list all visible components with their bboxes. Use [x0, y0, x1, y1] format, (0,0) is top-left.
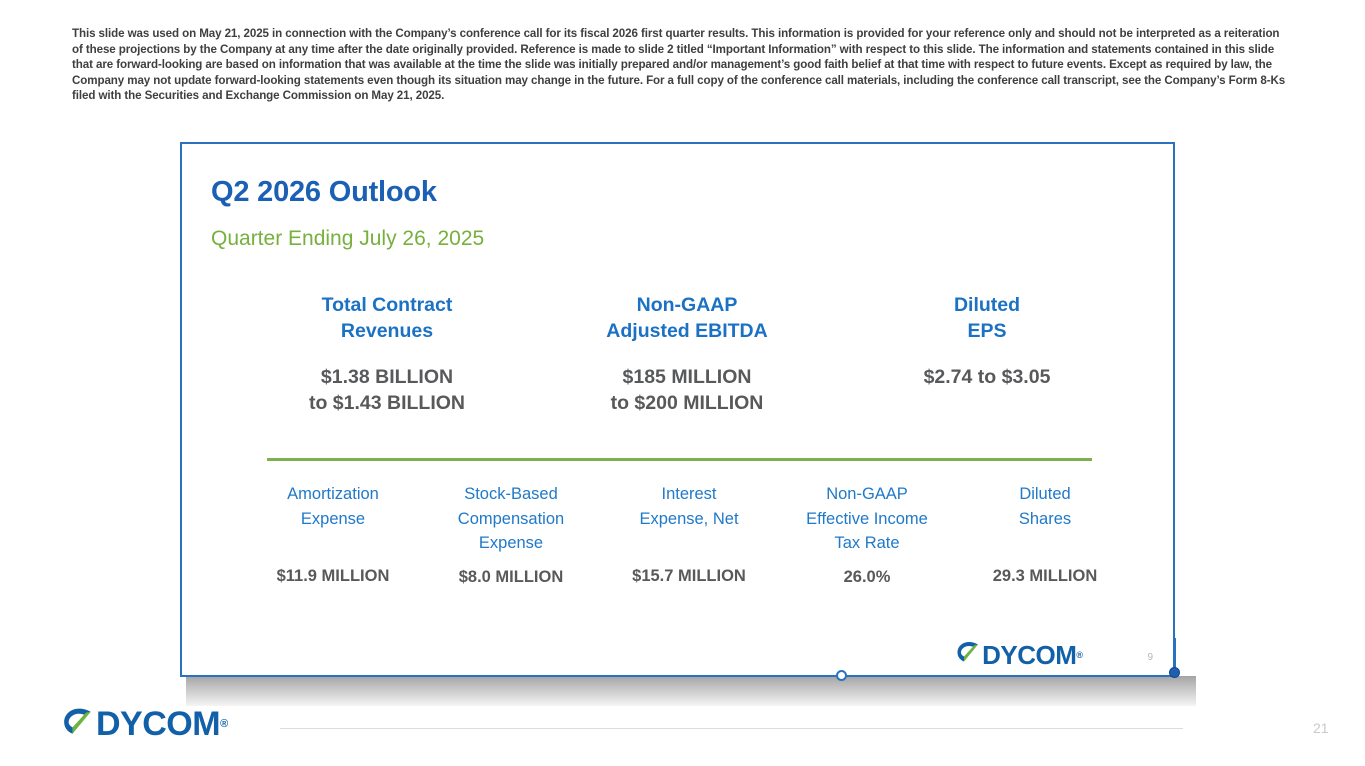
metric-label: Stock-Based Compensation Expense	[422, 482, 600, 556]
slide-content: Q2 2026 Outlook Quarter Ending July 26, …	[182, 144, 1173, 675]
dycom-wordmark: DYCOM	[982, 642, 1076, 668]
dycom-registered-mark: ®	[220, 718, 228, 730]
slide-dycom-logo: DYCOM ®	[956, 640, 1083, 669]
metric-label: Non-GAAP Effective Income Tax Rate	[778, 482, 956, 556]
metric-interest-expense-net: Interest Expense, Net $15.7 MILLION	[600, 482, 778, 588]
metric-label: Amortization Expense	[244, 482, 422, 531]
metric-value: $2.74 to $3.05	[837, 364, 1137, 390]
metric-value: $8.0 MILLION	[422, 566, 600, 588]
selection-handle-right[interactable]	[1169, 667, 1180, 678]
metric-label: Diluted EPS	[837, 292, 1137, 344]
selected-slide-image[interactable]: Q2 2026 Outlook Quarter Ending July 26, …	[180, 142, 1175, 677]
metric-total-contract-revenues: Total Contract Revenues $1.38 BILLION to…	[237, 292, 537, 416]
metric-label: Diluted Shares	[956, 482, 1134, 531]
metric-stock-based-compensation-expense: Stock-Based Compensation Expense $8.0 MI…	[422, 482, 600, 588]
metric-value: $185 MILLION to $200 MILLION	[537, 364, 837, 416]
metric-amortization-expense: Amortization Expense $11.9 MILLION	[244, 482, 422, 588]
metric-value: 29.3 MILLION	[956, 565, 1134, 587]
selection-handle-bottom[interactable]	[836, 670, 847, 681]
disclaimer-paragraph: This slide was used on May 21, 2025 in c…	[72, 26, 1288, 104]
metric-diluted-shares: Diluted Shares 29.3 MILLION	[956, 482, 1134, 588]
metric-value: $1.38 BILLION to $1.43 BILLION	[237, 364, 537, 416]
dycom-swoosh-icon	[956, 640, 982, 669]
slide-title: Q2 2026 Outlook	[211, 176, 437, 209]
metric-non-gaap-adjusted-ebitda: Non-GAAP Adjusted EBITDA $185 MILLION to…	[537, 292, 837, 416]
top-metrics-row: Total Contract Revenues $1.38 BILLION to…	[237, 292, 1137, 416]
metric-value: $11.9 MILLION	[244, 565, 422, 587]
dycom-wordmark: DYCOM	[96, 707, 220, 741]
slide-page-number: 9	[1147, 652, 1153, 663]
green-divider-line	[267, 458, 1092, 461]
metric-label: Non-GAAP Adjusted EBITDA	[537, 292, 837, 344]
footer-divider	[280, 728, 1183, 729]
bottom-metrics-row: Amortization Expense $11.9 MILLION Stock…	[244, 482, 1173, 588]
metric-diluted-eps: Diluted EPS $2.74 to $3.05	[837, 292, 1137, 416]
metric-label: Total Contract Revenues	[237, 292, 537, 344]
metric-value: $15.7 MILLION	[600, 565, 778, 587]
metric-non-gaap-effective-income-tax-rate: Non-GAAP Effective Income Tax Rate 26.0%	[778, 482, 956, 588]
dycom-registered-mark: ®	[1076, 650, 1083, 660]
slide-drop-shadow	[186, 676, 1196, 706]
metric-value: 26.0%	[778, 566, 956, 588]
slide-subtitle: Quarter Ending July 26, 2025	[211, 227, 484, 251]
footer-page-number: 21	[1313, 720, 1329, 736]
footer-dycom-logo: DYCOM ®	[62, 706, 228, 742]
dycom-swoosh-icon	[62, 706, 96, 742]
metric-label: Interest Expense, Net	[600, 482, 778, 531]
